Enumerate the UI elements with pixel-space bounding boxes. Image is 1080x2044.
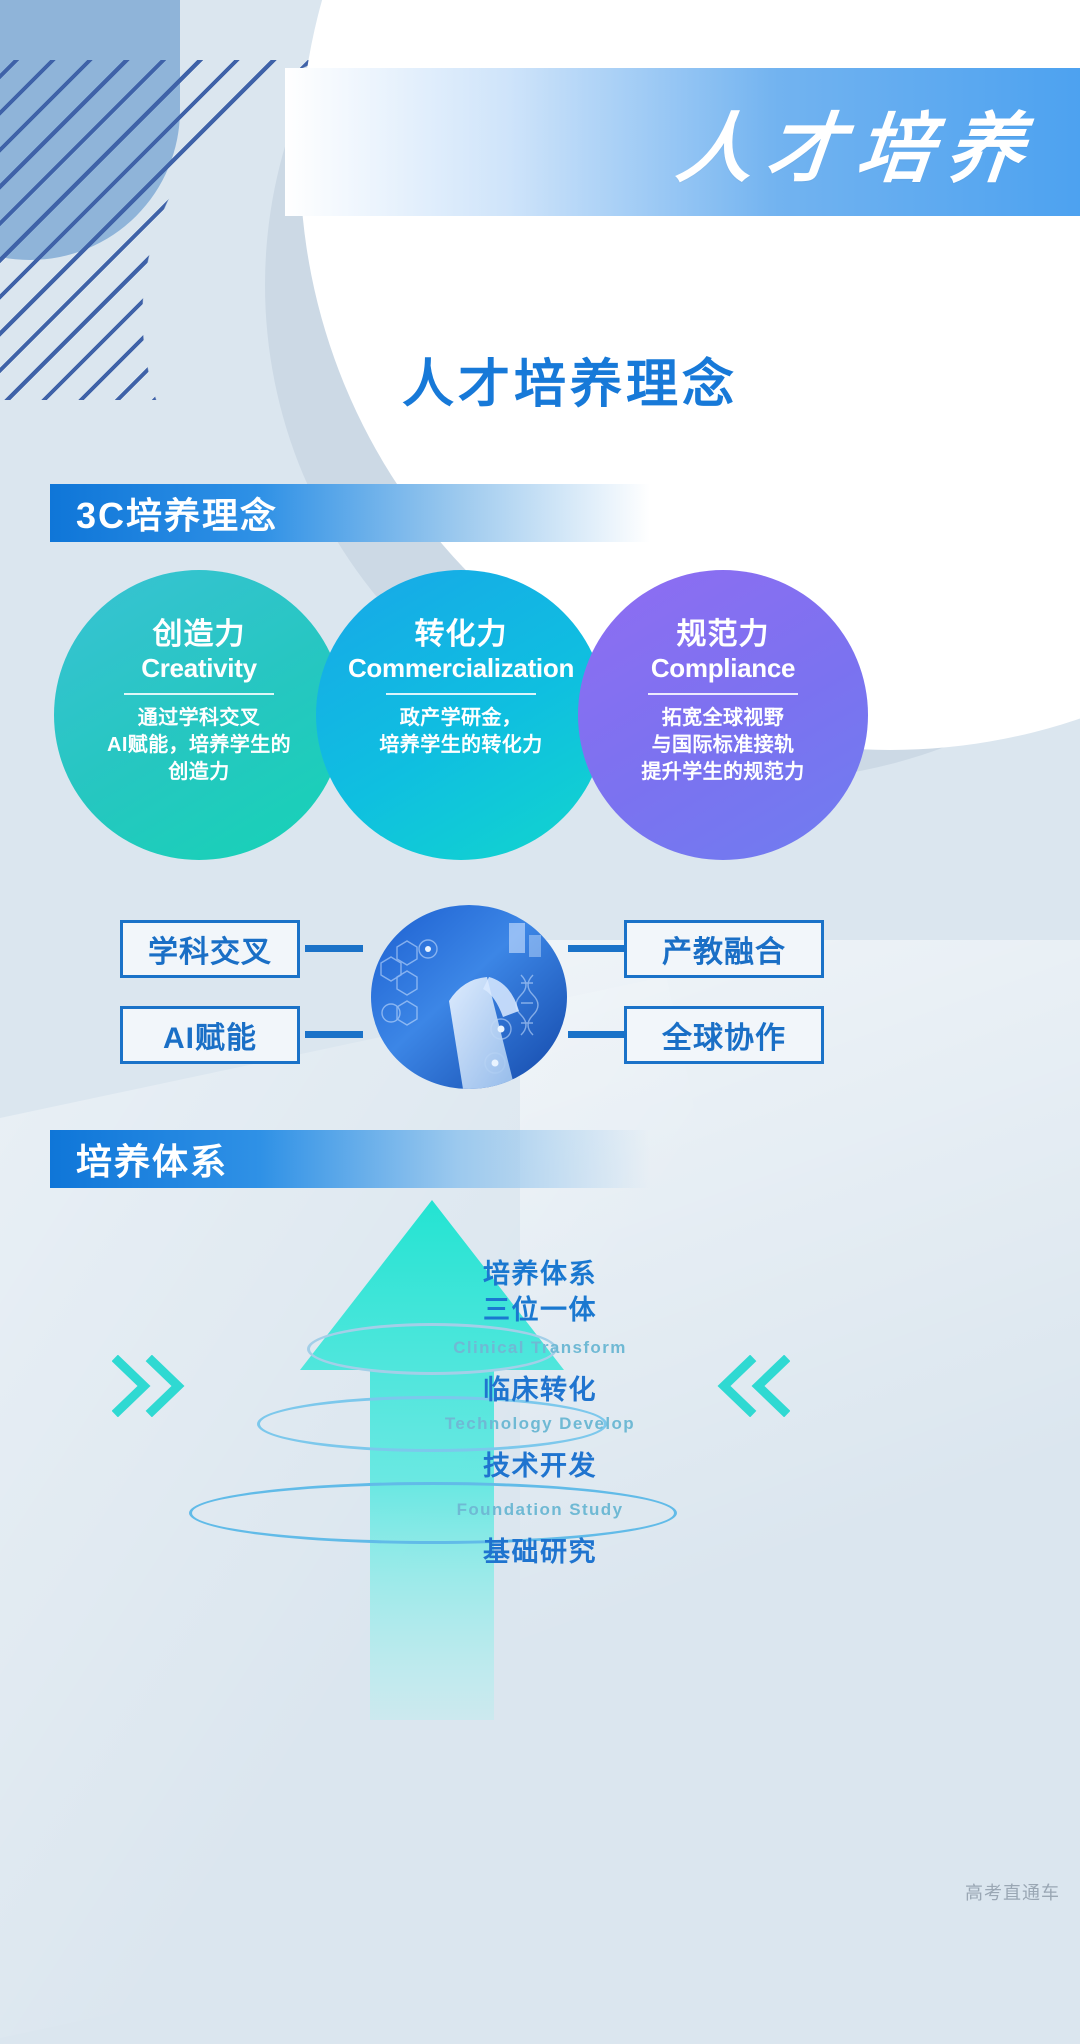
lab-research-photo	[371, 905, 567, 1089]
arrow-label: 培养体系 三位一体	[0, 1256, 1080, 1329]
concept-description: 通过学科交叉 AI赋能，培养学生的 创造力	[107, 705, 291, 786]
concept-circle-creativity[interactable]: 创造力 Creativity 通过学科交叉 AI赋能，培养学生的 创造力	[54, 570, 344, 860]
concept-divider	[124, 693, 274, 695]
concept-divider	[648, 693, 798, 695]
concept-en-label: Creativity	[141, 653, 257, 684]
connector-line-right-bottom	[568, 1031, 626, 1038]
chevron-right-icon	[112, 1355, 202, 1417]
concept-cn-label: 规范力	[677, 618, 770, 651]
banner-title: 人才培养	[672, 87, 1080, 197]
concept-cn-label: 转化力	[415, 618, 508, 651]
section-header-concept-label: 3C培养理念	[50, 487, 278, 539]
training-system-diagram: 培养体系 三位一体 Clinical Transform 临床转化 Techno…	[0, 1200, 1080, 1923]
level-en-foundation: Foundation Study	[0, 1500, 1080, 1520]
concept-divider	[386, 693, 536, 695]
level-en-technology: Technology Develop	[0, 1414, 1080, 1434]
concept-en-label: Compliance	[651, 653, 795, 684]
pillar-tag-global-collab[interactable]: 全球协作	[624, 1006, 824, 1064]
pillar-tag-industry-education[interactable]: 产教融合	[624, 920, 824, 978]
pillar-tag-interdisciplinary[interactable]: 学科交叉	[120, 920, 300, 978]
page-title: 人才培养理念	[0, 342, 1080, 417]
connector-line-left-top	[305, 945, 363, 952]
concept-en-label: Commercialization	[348, 653, 574, 684]
concept-circles-group: 创造力 Creativity 通过学科交叉 AI赋能，培养学生的 创造力 转化力…	[0, 570, 1080, 870]
section-header-system: 培养体系	[50, 1130, 650, 1188]
pillars-group: 学科交叉 AI赋能 产教融合 全球协作	[0, 900, 1080, 1090]
section-header-system-label: 培养体系	[50, 1133, 228, 1185]
concept-circle-commercialization[interactable]: 转化力 Commercialization 政产学研金， 培养学生的转化力	[316, 570, 606, 860]
level-cn-foundation: 基础研究	[0, 1530, 1080, 1569]
connector-line-right-top	[568, 945, 626, 952]
concept-description: 拓宽全球视野 与国际标准接轨 提升学生的规范力	[641, 705, 804, 786]
concept-cn-label: 创造力	[153, 618, 246, 651]
section-header-concept: 3C培养理念	[50, 484, 650, 542]
watermark: 高考直通车	[965, 1879, 1060, 1905]
concept-description: 政产学研金， 培养学生的转化力	[379, 705, 542, 759]
concept-circle-compliance[interactable]: 规范力 Compliance 拓宽全球视野 与国际标准接轨 提升学生的规范力	[578, 570, 868, 860]
header-banner: 人才培养	[285, 68, 1080, 216]
level-cn-technology: 技术开发	[0, 1444, 1080, 1483]
connector-line-left-bottom	[305, 1031, 363, 1038]
chevron-left-icon	[700, 1355, 790, 1417]
pillar-tag-ai-enablement[interactable]: AI赋能	[120, 1006, 300, 1064]
